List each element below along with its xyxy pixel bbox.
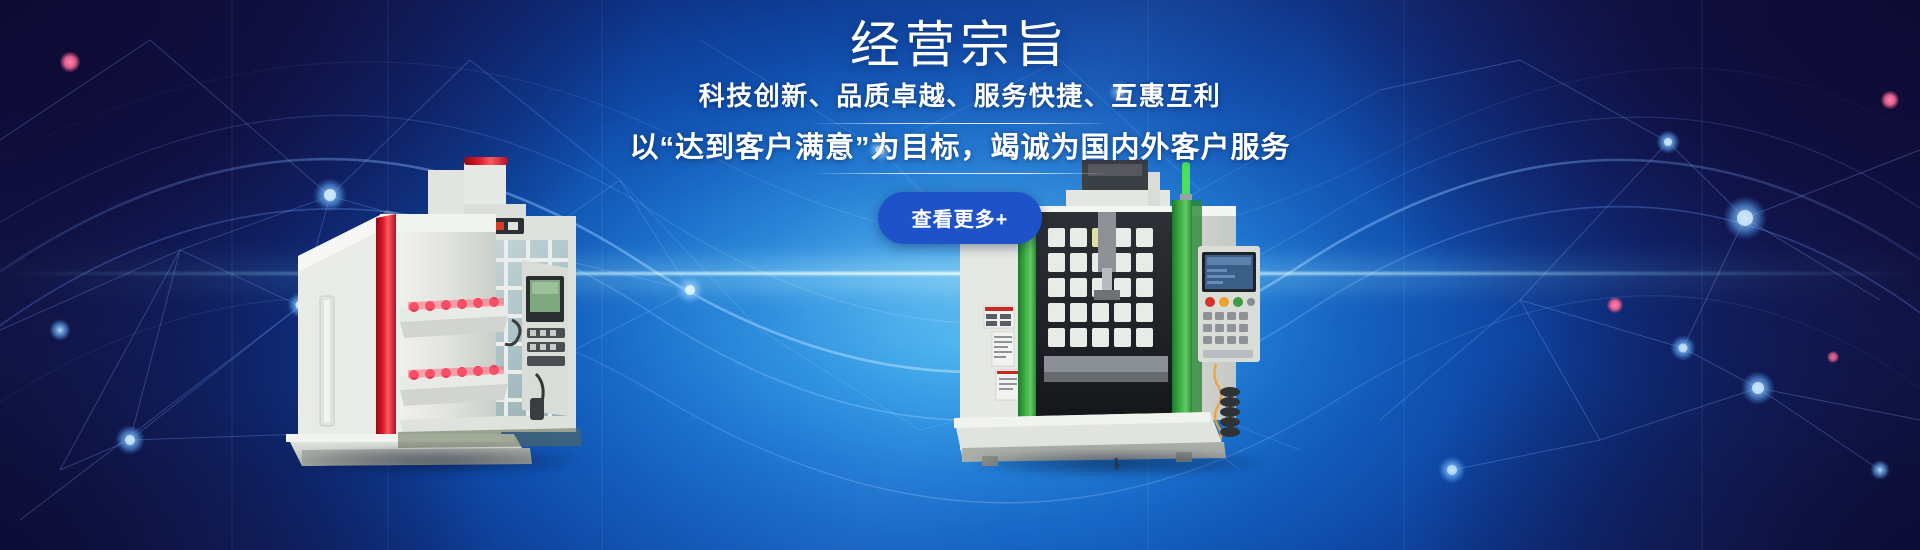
banner-title: 经营宗旨 <box>0 18 1920 72</box>
machine-right-shadow <box>975 450 1261 476</box>
divider-lower <box>0 173 1920 174</box>
banner-copy: 经营宗旨 科技创新、品质卓越、服务快捷、互惠互利 以“达到客户满意”为目标，竭诚… <box>0 18 1920 244</box>
view-more-button[interactable]: 查看更多+ <box>878 192 1043 244</box>
machine-left-shadow <box>294 448 571 474</box>
promo-banner: 经营宗旨 科技创新、品质卓越、服务快捷、互惠互利 以“达到客户满意”为目标，竭诚… <box>0 0 1920 550</box>
banner-tagline: 以“达到客户满意”为目标，竭诚为国内外客户服务 <box>0 130 1920 168</box>
divider-upper <box>0 123 1920 124</box>
banner-subtitle: 科技创新、品质卓越、服务快捷、互惠互利 <box>0 80 1920 113</box>
